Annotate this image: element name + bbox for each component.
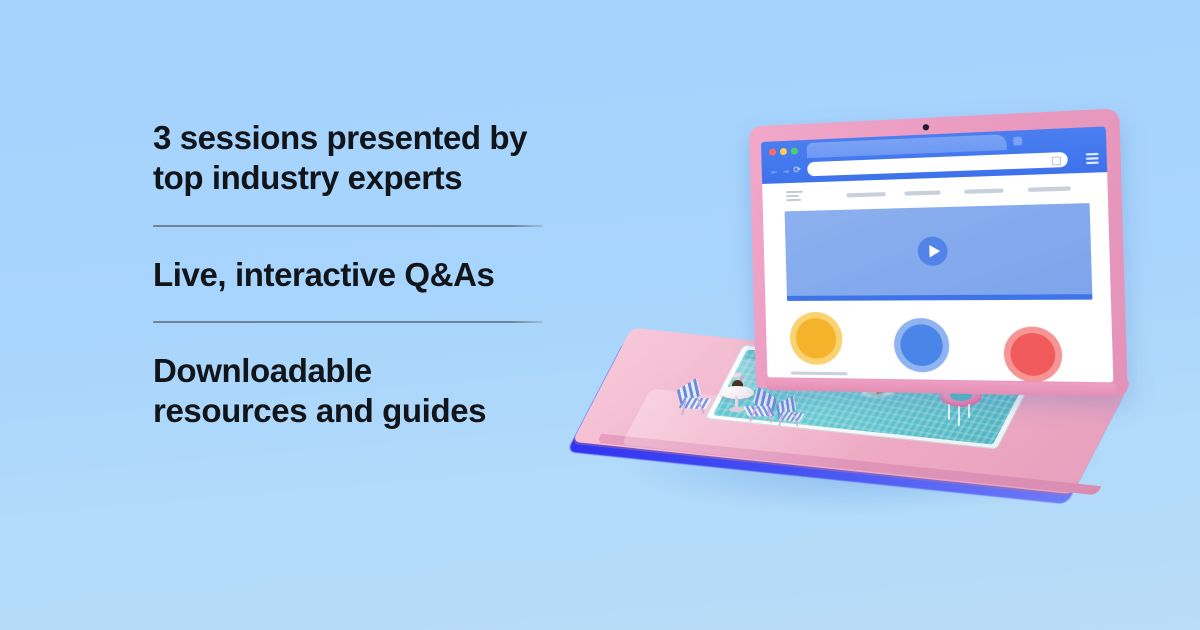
website-mockup xyxy=(762,172,1113,382)
play-icon[interactable] xyxy=(917,236,948,266)
site-nav xyxy=(846,186,1089,200)
water-drip xyxy=(968,404,970,418)
card-dot-blue xyxy=(900,324,944,366)
feature-sessions-line2: top industry experts xyxy=(153,158,553,198)
feature-cards xyxy=(787,312,1095,383)
feature-card-1[interactable] xyxy=(789,312,876,383)
site-nav-link[interactable] xyxy=(964,188,1003,193)
bookmark-icon[interactable] xyxy=(1052,156,1061,165)
feature-card-2[interactable] xyxy=(893,318,985,382)
spacer xyxy=(153,199,553,225)
feature-resources-line1: Downloadable xyxy=(153,351,553,391)
deck-chair-3 xyxy=(775,399,805,427)
spacer xyxy=(153,295,553,321)
card-ring-red xyxy=(1003,327,1063,383)
reload-icon[interactable]: ⟳ xyxy=(793,165,801,174)
spacer xyxy=(153,227,553,255)
card-dot-red xyxy=(1010,333,1056,376)
promo-banner: 3 sessions presented by top industry exp… xyxy=(0,0,1200,630)
spacer xyxy=(153,323,553,351)
water-drip xyxy=(958,406,960,426)
water-drip xyxy=(948,404,950,420)
hamburger-menu-icon[interactable] xyxy=(1086,153,1099,164)
feature-list: 3 sessions presented by top industry exp… xyxy=(153,118,553,431)
traffic-light-minimize[interactable] xyxy=(780,148,787,155)
feature-resources-line2: resources and guides xyxy=(153,391,553,431)
card-ring-blue xyxy=(893,318,950,373)
feature-sessions-line1: 3 sessions presented by xyxy=(153,118,553,158)
deck-chair-1 xyxy=(676,382,711,415)
new-tab-icon[interactable] xyxy=(1013,137,1022,146)
laptop-screen: ← → ⟳ xyxy=(761,126,1113,382)
site-nav-link[interactable] xyxy=(846,192,885,197)
traffic-light-close[interactable] xyxy=(769,148,776,155)
site-nav-link[interactable] xyxy=(904,190,940,195)
pool-laptop-illustration: ← → ⟳ xyxy=(560,120,1200,540)
play-triangle xyxy=(929,245,940,258)
feature-card-3[interactable] xyxy=(1003,327,1100,383)
forward-arrow-icon[interactable]: → xyxy=(781,166,790,175)
laptop-lid: ← → ⟳ xyxy=(749,108,1128,394)
feature-qanda-line1: Live, interactive Q&As xyxy=(153,255,553,295)
card-dot-yellow xyxy=(795,318,836,359)
site-nav-link[interactable] xyxy=(1028,186,1071,192)
deck-chair-2 xyxy=(743,391,778,424)
back-arrow-icon[interactable]: ← xyxy=(770,166,779,175)
site-logo-icon[interactable] xyxy=(786,191,803,203)
traffic-light-zoom[interactable] xyxy=(791,147,798,154)
card-ring-yellow xyxy=(789,312,843,365)
video-hero-block[interactable] xyxy=(785,203,1093,296)
